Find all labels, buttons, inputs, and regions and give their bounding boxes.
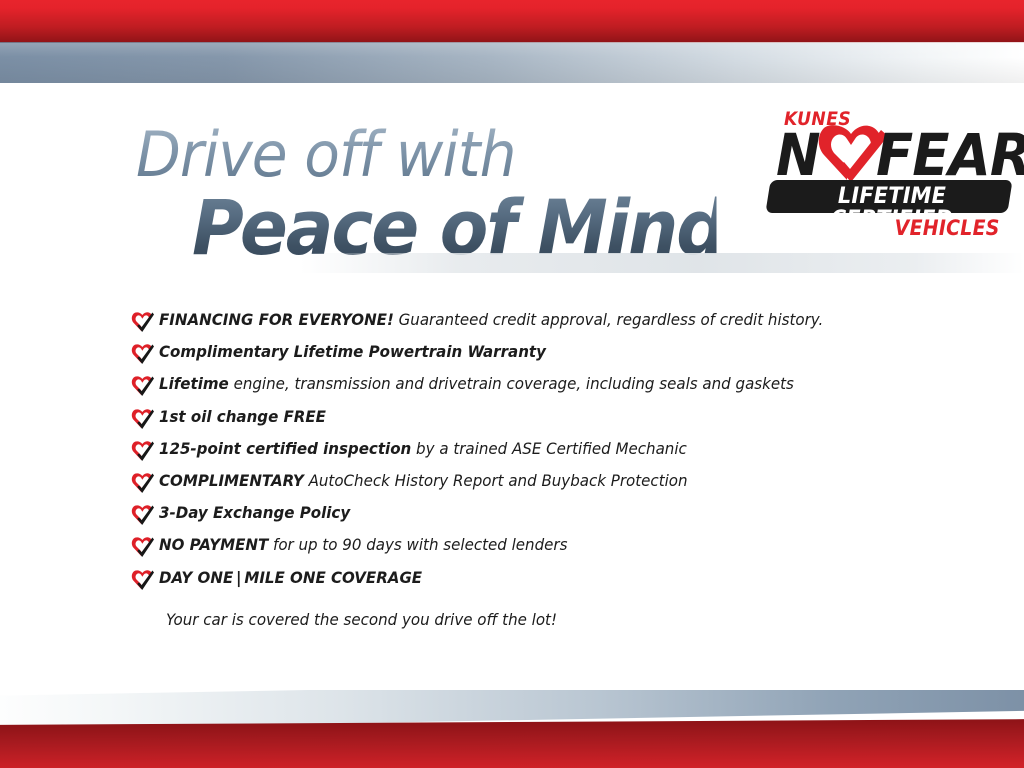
- list-item-emphasis: 1st oil change FREE: [159, 407, 326, 426]
- headline-line-1: Drive off with: [136, 124, 719, 186]
- list-item-emphasis: Complimentary Lifetime Powertrain Warran…: [159, 342, 546, 361]
- list-item: 125-point certified inspection by a trai…: [130, 437, 930, 469]
- list-item-emphasis: NO PAYMENT: [159, 535, 268, 554]
- heart-check-bullet-icon: [130, 440, 154, 462]
- heart-check-bullet-icon: [130, 375, 154, 397]
- list-item-detail: AutoCheck History Report and Buyback Pro…: [304, 471, 688, 490]
- kunes-no-fear-logo: KUNES N FEAR LIFETIME CERTIFIED VEHICLES: [766, 108, 1016, 248]
- list-item: FINANCING FOR EVERYONE! Guaranteed credi…: [130, 308, 930, 340]
- logo-word-fear: FEAR: [876, 126, 1024, 184]
- list-item-text: DAY ONE|MILE ONE COVERAGE: [159, 566, 422, 589]
- list-item-separator: |: [233, 568, 244, 587]
- list-item-emphasis-2: MILE ONE COVERAGE: [244, 568, 422, 587]
- heart-check-bullet-icon: [130, 311, 154, 333]
- heart-check-bullet-icon: [130, 536, 154, 558]
- bottom-red-bar: [0, 714, 1024, 768]
- benefits-list: FINANCING FOR EVERYONE! Guaranteed credi…: [130, 308, 930, 630]
- list-item-text: COMPLIMENTARY AutoCheck History Report a…: [159, 469, 688, 492]
- list-item: Complimentary Lifetime Powertrain Warran…: [130, 340, 930, 372]
- list-item-text: 125-point certified inspection by a trai…: [159, 437, 687, 460]
- heart-check-bullet-icon: [130, 343, 154, 365]
- list-item-detail: Guaranteed credit approval, regardless o…: [394, 310, 823, 329]
- bottom-red-gradient: [0, 719, 1024, 768]
- heart-check-bullet-icon: [130, 504, 154, 526]
- top-red-bar: [0, 0, 1024, 43]
- list-item-emphasis: FINANCING FOR EVERYONE!: [159, 310, 394, 329]
- list-item-text: Lifetime engine, transmission and drivet…: [159, 372, 794, 395]
- list-item-emphasis: Lifetime: [159, 374, 229, 393]
- list-item: DAY ONE|MILE ONE COVERAGE: [130, 566, 930, 612]
- list-item: 1st oil change FREE: [130, 405, 930, 437]
- list-item: COMPLIMENTARY AutoCheck History Report a…: [130, 469, 930, 501]
- list-item: NO PAYMENT for up to 90 days with select…: [130, 533, 930, 565]
- decorative-mid-band: [300, 253, 1024, 273]
- heart-check-bullet-icon: [130, 569, 154, 591]
- heart-check-bullet-icon: [130, 408, 154, 430]
- list-item: Lifetime engine, transmission and drivet…: [130, 372, 930, 404]
- heart-check-bullet-icon: [130, 472, 154, 494]
- list-item-text: 3-Day Exchange Policy: [159, 501, 350, 524]
- list-item-detail: for up to 90 days with selected lenders: [268, 535, 567, 554]
- list-item-emphasis: DAY ONE: [159, 568, 233, 587]
- list-item-detail: by a trained ASE Certified Mechanic: [411, 439, 687, 458]
- list-item-text: NO PAYMENT for up to 90 days with select…: [159, 533, 567, 556]
- list-item-emphasis: COMPLIMENTARY: [159, 471, 304, 490]
- list-item-text: 1st oil change FREE: [159, 405, 326, 428]
- list-item: 3-Day Exchange Policy: [130, 501, 930, 533]
- list-item-detail: engine, transmission and drivetrain cove…: [229, 374, 794, 393]
- list-item-emphasis: 125-point certified inspection: [159, 439, 411, 458]
- top-gray-bar-shading: [0, 43, 1024, 83]
- promo-flyer: Drive off with Peace of Mind KUNES N FEA…: [0, 0, 1024, 768]
- list-item-subtext: Your car is covered the second you drive…: [166, 610, 877, 630]
- list-item-text: Complimentary Lifetime Powertrain Warran…: [159, 340, 546, 363]
- list-item-emphasis: 3-Day Exchange Policy: [159, 503, 350, 522]
- headline-block: Drive off with Peace of Mind: [136, 124, 756, 268]
- logo-word-vehicles: VEHICLES: [895, 216, 1000, 240]
- logo-no-fear-wordmark: N FEAR: [772, 124, 1016, 186]
- list-item-text: FINANCING FOR EVERYONE! Guaranteed credi…: [159, 308, 823, 331]
